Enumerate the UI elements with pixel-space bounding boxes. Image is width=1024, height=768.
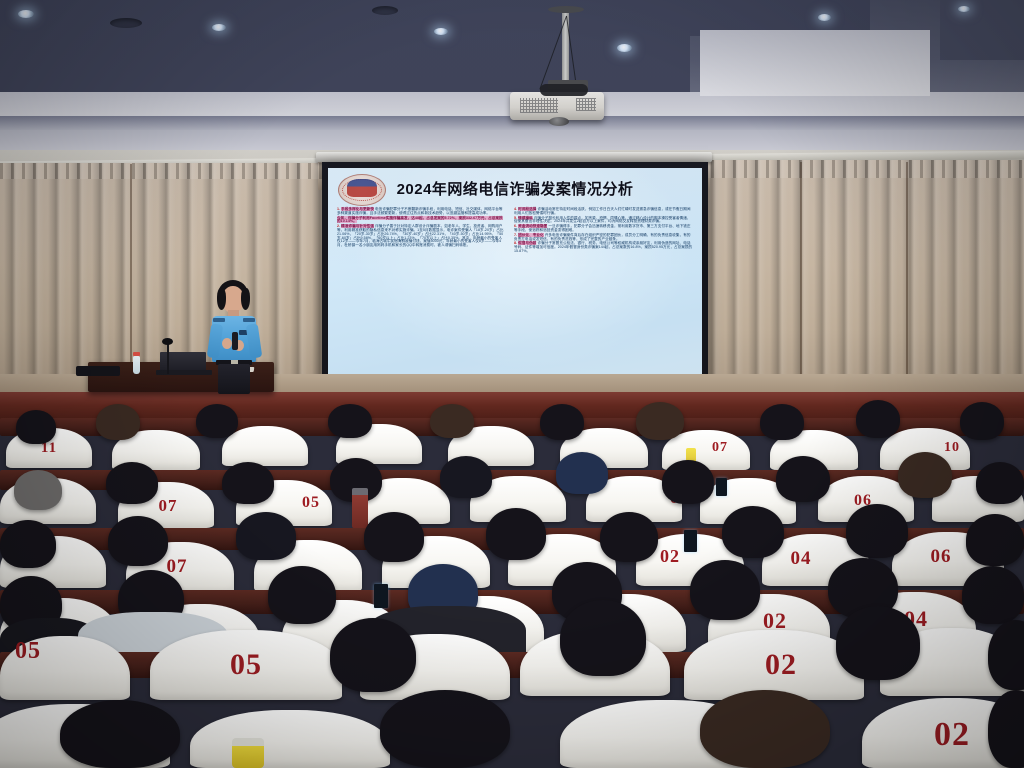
phone-r3: [374, 584, 388, 608]
slide-title: 2024年网络电信诈骗发案情况分析: [328, 178, 702, 199]
curtain-pleat-header-right: [700, 160, 1024, 178]
audience-head-r4-7: [722, 506, 784, 558]
audience-head-r2-2: [560, 600, 646, 676]
audience-head-r4-9: [966, 514, 1024, 566]
audience-head-far-2: [96, 404, 140, 440]
downlight-icon-5: [818, 14, 831, 21]
audience-head-r3-6: [690, 560, 760, 620]
water-bottle-stage: [133, 356, 140, 374]
seat-number-far-2: 07: [700, 440, 740, 456]
seat-number-r5-2: 05: [288, 494, 334, 512]
audience-head-far-8: [760, 404, 804, 440]
audience-head-r5-5-cap: [440, 456, 492, 498]
projector-cable-bundle: [540, 84, 588, 96]
seat-number-r2-1: 05: [0, 638, 56, 665]
speaker-epaulette-right: [243, 318, 255, 322]
phone-r5: [716, 478, 727, 496]
equipment-box: [76, 366, 120, 376]
audience-head-r4-6: [600, 512, 658, 562]
audience-head-r5-8: [776, 456, 830, 502]
audience-head-r4-4: [364, 512, 424, 562]
speaker-hair-side-left: [217, 288, 226, 310]
audience-head-r4-8: [846, 504, 908, 558]
speaker-officer: [200, 280, 270, 392]
audience-head-r5-2: [106, 462, 158, 504]
microphone-head-icon: [162, 338, 173, 345]
chair-far-3: [222, 426, 308, 466]
audience-head-r5-7: [662, 460, 714, 504]
seat-number-r2-3: 02: [716, 648, 846, 682]
ceiling-panel-dark-far-right: [940, 0, 1024, 60]
audience-head-r5-9: [898, 452, 952, 498]
curtain-pleat-header-left: [0, 163, 330, 179]
curtain-seam-1: [130, 164, 132, 390]
projector-vent-grill-2: [576, 98, 596, 111]
slide-left-p1-heading: 1. 手段多样化与更新快 电信诈骗犯罪分子不断翻新诈骗手段，利用电话、短信、社交…: [337, 208, 505, 216]
seat-number-r4-4: 06: [912, 546, 970, 568]
audience-head-r5-6-cap: [556, 452, 608, 494]
audience-head-far-7: [636, 402, 684, 440]
water-bottle-cap-stage: [133, 352, 140, 356]
audience-head-far-5: [430, 404, 474, 438]
seat-number-far-1: 11: [6, 440, 92, 457]
audience-head-r5-1: [14, 470, 62, 510]
seat-number-r2-2: 05: [176, 648, 316, 682]
handheld-microphone: [232, 332, 238, 350]
audience-head-r1-1: [60, 700, 180, 768]
speaker-epaulette-left: [213, 318, 225, 322]
speaker-hair-side-right: [241, 288, 250, 310]
seat-number-r4-3: 04: [772, 548, 830, 570]
slide-right-column: 4. 时间段选择 诈骗活动常在特定时间段活跃，例如工作日白天人们忙碌时发送紧急诈…: [514, 208, 694, 255]
slide-right-p8: 8. 假冒与伪装 诈骗分子常冒充公检法、银行、税务、电信公司等权威机构或亲朋好友…: [514, 242, 694, 253]
slide-left-column: 1. 手段多样化与更新快 电信诈骗犯罪分子不断翻新诈骗手段，利用电话、短信、社交…: [337, 208, 505, 249]
drink-bottle-front: [232, 738, 264, 768]
phone-r4: [684, 530, 697, 552]
audience-head-r2-1: [330, 618, 416, 692]
slide-right-p4: 4. 时间段选择 诈骗活动常在特定时间段活跃，例如工作日白天人们忙碌时发送紧急诈…: [514, 208, 694, 216]
audience-head-r1-3: [700, 690, 830, 768]
curtain-seam-3: [906, 162, 908, 400]
audience-head-r4-3-cap: [236, 512, 296, 560]
ceiling-vent-1: [110, 18, 142, 28]
ceiling-vent-2: [372, 6, 398, 15]
speaker-trousers: [218, 364, 250, 394]
speaker-hand-left: [222, 338, 232, 349]
tumbler-r5: [352, 488, 368, 528]
audience-head-r1-2: [380, 690, 510, 768]
audience-head-r2-3: [836, 606, 920, 680]
audience-head-r5-10: [976, 462, 1024, 504]
audience-head-r4-1: [0, 520, 56, 568]
audience-head-r5-3: [222, 462, 274, 504]
lecture-hall-photo: 2024年网络电信诈骗发案情况分析 1. 手段多样化与更新快 电信诈骗犯罪分子不…: [0, 0, 1024, 768]
screen-roller-housing: [316, 152, 712, 162]
downlight-icon-4: [617, 44, 632, 52]
curtain-seam-2: [800, 162, 802, 398]
audience-head-far-6: [540, 404, 584, 440]
audience-head-r4-5: [486, 508, 546, 560]
downlight-icon-6: [958, 6, 970, 12]
chair-r1-2: [190, 710, 390, 768]
projection-screen: 2024年网络电信诈骗发案情况分析 1. 手段多样化与更新快 电信诈骗犯罪分子不…: [328, 168, 702, 386]
audience-head-r3-8: [962, 566, 1024, 624]
projector-lens-icon: [549, 117, 569, 126]
downlight-icon-1: [18, 10, 34, 18]
audience-head-far-1: [16, 410, 56, 444]
projector-vent-grill: [520, 98, 558, 113]
ceiling-soffit-upper-right: [700, 30, 930, 96]
audience-head-r3-3: [268, 566, 336, 624]
audience-head-far-4: [328, 404, 372, 438]
downlight-icon-2: [212, 24, 226, 31]
audience-head-r4-2: [108, 516, 168, 566]
audience-head-far-3: [196, 404, 238, 438]
audience-head-r2-4: [988, 620, 1024, 690]
slide-left-p2: 2. 精准诈骗与针对性强 诈骗分子善于针对特定人群设计诈骗剧本，如老年人、学生、…: [337, 225, 505, 248]
slide-right-p6: 6. 资金流动快速隐匿 一旦诈骗得手，犯罪分子会迅速转移资金，常利用数字货币、第…: [514, 225, 694, 233]
audience-head-far-9: [856, 400, 900, 438]
audience-head-far-10: [960, 402, 1004, 440]
projector-ceiling-plate: [548, 6, 584, 13]
microphone-stand: [167, 342, 169, 374]
curtain-right: [700, 160, 1024, 402]
downlight-icon-3: [434, 28, 448, 35]
screen-glare: [328, 168, 702, 386]
